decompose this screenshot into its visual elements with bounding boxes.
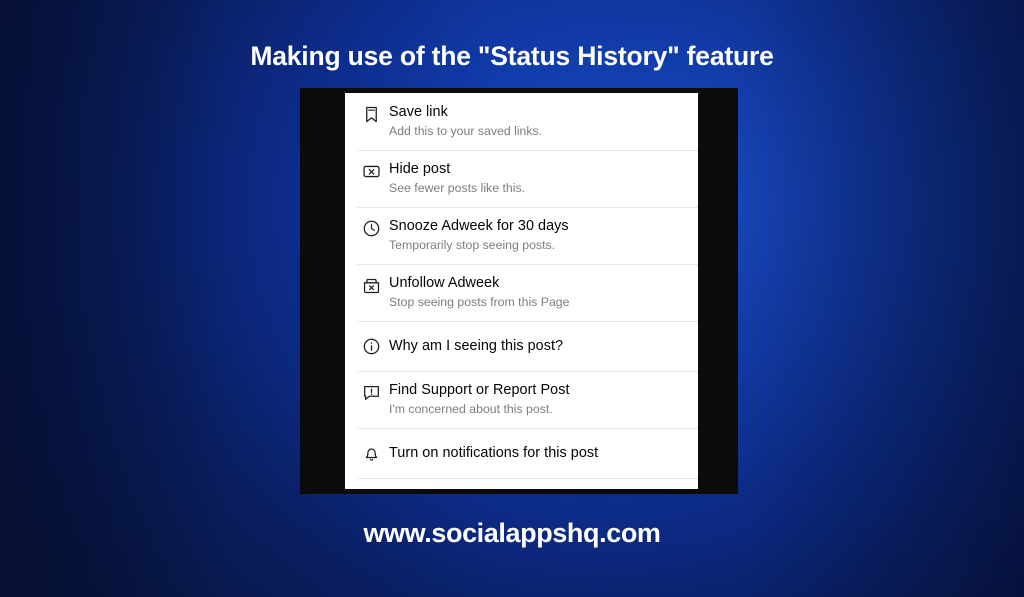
menu-item[interactable]: Why am I seeing this post? (345, 321, 698, 371)
hide-post-icon (353, 161, 389, 184)
post-options-menu-list: Save linkAdd this to your saved links.Hi… (345, 93, 698, 489)
menu-item[interactable]: Turn on notifications for this post (345, 428, 698, 478)
menu-item-title: Find Support or Report Post (389, 382, 570, 399)
menu-item-subtitle: See fewer posts like this. (389, 180, 525, 196)
menu-item-subtitle: Temporarily stop seeing posts. (389, 237, 569, 253)
menu-item-subtitle: I'm concerned about this post. (389, 401, 570, 417)
menu-item-text: Unfollow AdweekStop seeing posts from th… (389, 275, 569, 310)
post-options-menu-card: Save linkAdd this to your saved links.Hi… (345, 93, 698, 489)
menu-item-text: Why am I seeing this post? (389, 338, 563, 355)
menu-item[interactable]: View edit history (345, 478, 698, 489)
unfollow-icon (353, 275, 389, 298)
clock-icon (353, 218, 389, 241)
menu-item-text: Hide postSee fewer posts like this. (389, 161, 525, 196)
menu-item-title: Save link (389, 104, 542, 121)
menu-item[interactable]: Unfollow AdweekStop seeing posts from th… (345, 264, 698, 321)
bell-icon (353, 442, 389, 464)
info-icon (353, 335, 389, 357)
menu-item[interactable]: Find Support or Report PostI'm concerned… (345, 371, 698, 428)
menu-item-text: Find Support or Report PostI'm concerned… (389, 382, 570, 417)
report-icon (353, 382, 389, 405)
screenshot-frame: Save linkAdd this to your saved links.Hi… (300, 88, 738, 494)
menu-item-title: Unfollow Adweek (389, 275, 569, 292)
menu-item-title: Why am I seeing this post? (389, 338, 563, 355)
menu-item-title: Hide post (389, 161, 525, 178)
menu-item-text: Save linkAdd this to your saved links. (389, 104, 542, 139)
page-title: Making use of the "Status History" featu… (0, 41, 1024, 72)
footer-website-url: www.socialappshq.com (0, 518, 1024, 549)
menu-item-title: Turn on notifications for this post (389, 445, 598, 462)
menu-item-text: Turn on notifications for this post (389, 445, 598, 462)
menu-item-subtitle: Add this to your saved links. (389, 123, 542, 139)
menu-item-text: Snooze Adweek for 30 daysTemporarily sto… (389, 218, 569, 253)
bookmark-icon (353, 104, 389, 127)
menu-item[interactable]: Snooze Adweek for 30 daysTemporarily sto… (345, 207, 698, 264)
menu-item[interactable]: Save linkAdd this to your saved links. (345, 93, 698, 150)
menu-item-title: Snooze Adweek for 30 days (389, 218, 569, 235)
menu-item-subtitle: Stop seeing posts from this Page (389, 294, 569, 310)
slide-canvas: Making use of the "Status History" featu… (0, 0, 1024, 597)
menu-item[interactable]: Hide postSee fewer posts like this. (345, 150, 698, 207)
